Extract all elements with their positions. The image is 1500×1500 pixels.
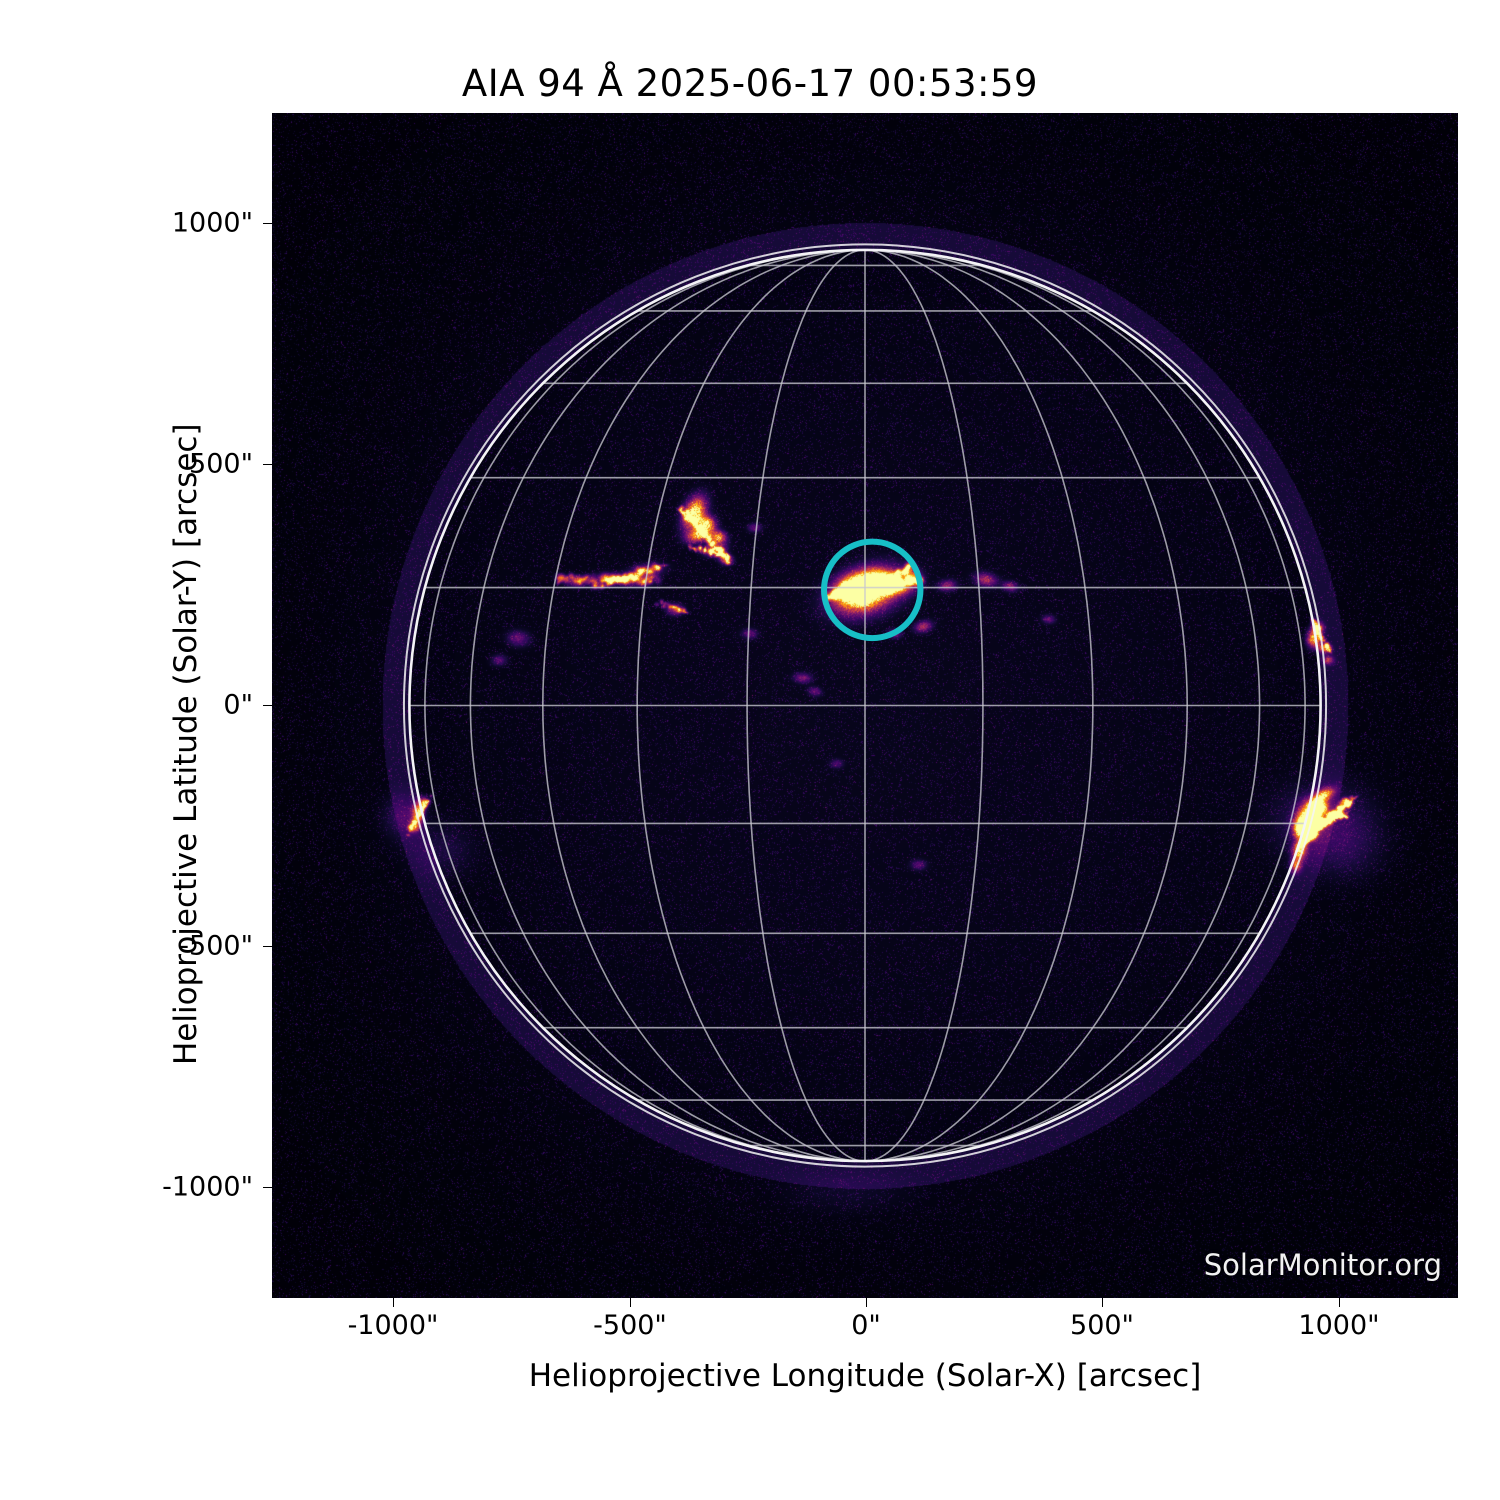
solar-image-figure: AIA 94 Å 2025-06-17 00:53:59 SolarMonito… (0, 0, 1500, 1500)
ytick-4 (263, 1187, 272, 1188)
y-axis-label: Helioprojective Latitude (Solar-Y) [arcs… (168, 423, 204, 1065)
active-region-marker-circle[interactable] (824, 542, 920, 638)
ytick-0 (263, 223, 272, 224)
xtick-label-4: 1000" (1298, 1310, 1379, 1341)
ytick-3 (263, 946, 272, 947)
xtick-3 (1102, 1298, 1103, 1307)
xtick-0 (393, 1298, 394, 1307)
ytick-label-4: -1000" (162, 1172, 253, 1203)
xtick-1 (630, 1298, 631, 1307)
page-title: AIA 94 Å 2025-06-17 00:53:59 (0, 62, 1500, 105)
ytick-label-2: 0" (223, 690, 253, 721)
ytick-label-0: 1000" (172, 208, 253, 239)
heliographic-grid-overlay (272, 113, 1458, 1298)
xtick-label-0: -1000" (348, 1310, 439, 1341)
watermark: SolarMonitor.org (1204, 1248, 1442, 1282)
xtick-label-1: -500" (593, 1310, 667, 1341)
plot-axes[interactable]: SolarMonitor.org (272, 113, 1458, 1298)
ytick-1 (263, 464, 272, 465)
xtick-2 (866, 1298, 867, 1307)
xtick-label-2: 0" (851, 1310, 881, 1341)
x-axis-label: Helioprojective Longitude (Solar-X) [arc… (272, 1358, 1458, 1394)
xtick-4 (1339, 1298, 1340, 1307)
solar-disk-image (272, 113, 1458, 1298)
ytick-2 (263, 705, 272, 706)
xtick-label-3: 500" (1070, 1310, 1134, 1341)
